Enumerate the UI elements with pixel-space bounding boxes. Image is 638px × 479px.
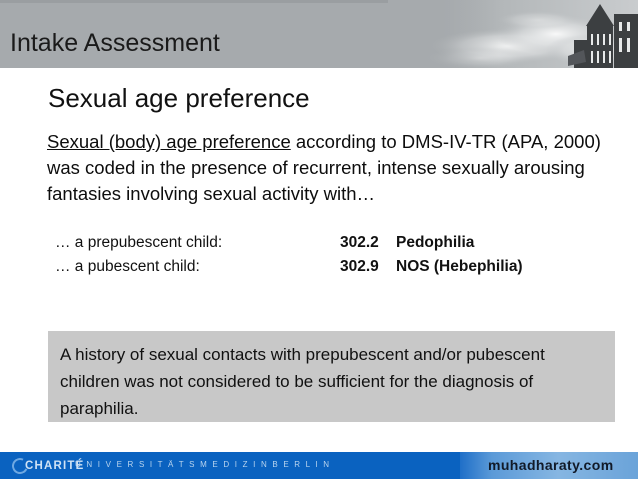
code-row-label: … a pubescent child:: [55, 255, 200, 279]
code-row-diagnosis: NOS (Hebephilia): [396, 255, 523, 279]
body-paragraph: Sexual (body) age preference according t…: [47, 129, 613, 207]
code-row-label: … a prepubescent child:: [55, 231, 222, 255]
slide-footer-bar: CHARITÉ U N I V E R S I T Ä T S M E D I …: [0, 452, 638, 479]
callout-box: A history of sexual contacts with prepub…: [48, 331, 615, 422]
footer-left-panel: CHARITÉ U N I V E R S I T Ä T S M E D I …: [0, 452, 460, 479]
site-watermark: muhadharaty.com: [488, 457, 614, 473]
campus-building-tower-photo: [388, 0, 638, 68]
slide-header-band: Intake Assessment: [0, 0, 638, 68]
slide-root: Intake Assessment Sexual age preference …: [0, 0, 638, 479]
callout-text: A history of sexual contacts with prepub…: [60, 341, 601, 422]
page-title: Intake Assessment: [10, 28, 220, 58]
code-row-diagnosis: Pedophilia: [396, 231, 474, 255]
list-item: … a prepubescent child: 302.2 Pedophilia: [55, 231, 615, 255]
circle-arc-icon: [10, 455, 31, 476]
code-row-code: 302.9: [340, 255, 379, 279]
list-item: … a pubescent child: 302.9 NOS (Hebephil…: [55, 255, 615, 279]
slide-subtitle: Sexual age preference: [48, 82, 310, 114]
footer-institution-subtitle: U N I V E R S I T Ä T S M E D I Z I N B …: [75, 460, 331, 469]
diagnosis-code-list: … a prepubescent child: 302.2 Pedophilia…: [55, 231, 615, 279]
charite-logo: CHARITÉ: [12, 457, 85, 474]
code-row-code: 302.2: [340, 231, 379, 255]
footer-right-panel: muhadharaty.com: [460, 452, 638, 479]
paragraph-underlined-term: Sexual (body) age preference: [47, 131, 291, 152]
